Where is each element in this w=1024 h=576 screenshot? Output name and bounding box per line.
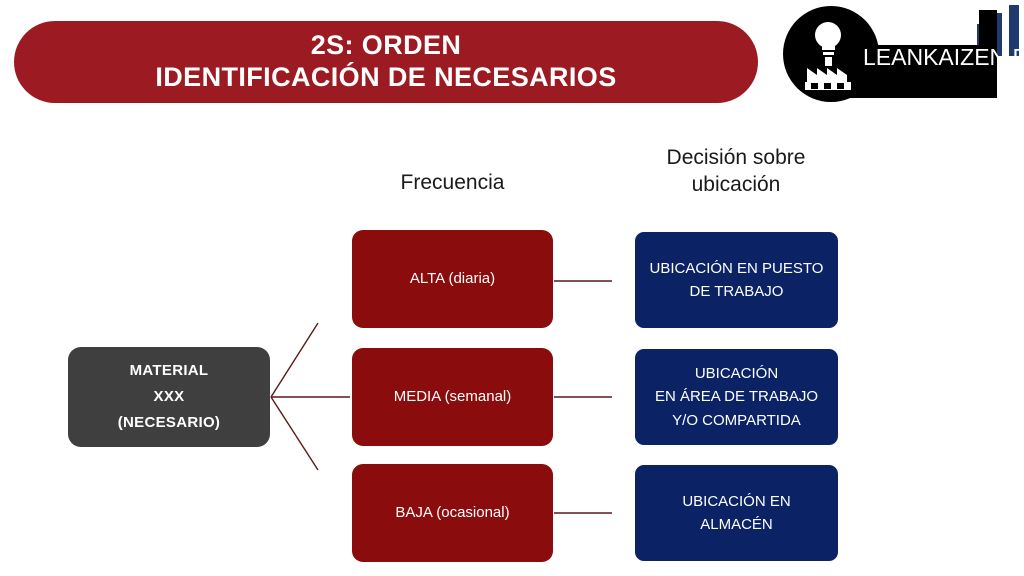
column-header-decision-line-2: ubicación: [628, 172, 844, 199]
frequency-node-alta[interactable]: ALTA (diaria): [352, 230, 553, 328]
source-node-line-1: MATERIAL: [76, 358, 262, 384]
title-banner: 2S: ORDEN IDENTIFICACIÓN DE NECESARIOS: [14, 21, 758, 103]
connector-source-to-baja: [271, 397, 318, 470]
source-node-line-2: XXX: [76, 384, 262, 410]
frequency-node-alta-label: ALTA (diaria): [352, 269, 553, 289]
column-header-frecuencia: Frecuencia: [352, 170, 553, 197]
source-node-line-3: (NECESARIO): [76, 410, 262, 436]
leankaizen-logo[interactable]: LEANKAIZEN.ES LEANKAIZEN.ES: [781, 2, 1024, 104]
frequency-node-media-label: MEDIA (semanal): [352, 387, 553, 407]
decision-node-2-line-1: UBICACIÓN: [643, 362, 830, 385]
decision-node-3-line-2: ALMACÉN: [643, 513, 830, 536]
decision-node-2-line-2: EN ÁREA DE TRABAJO: [643, 385, 830, 408]
title-line-2: IDENTIFICACIÓN DE NECESARIOS: [155, 62, 616, 94]
frequency-node-media[interactable]: MEDIA (semanal): [352, 348, 553, 446]
decision-node-1-line-2: DE TRABAJO: [643, 280, 830, 303]
connector-source-to-alta: [271, 323, 318, 397]
slide-canvas: 2S: ORDEN IDENTIFICACIÓN DE NECESARIOS: [0, 0, 1024, 576]
column-header-decision: Decisión sobre ubicación: [628, 145, 844, 199]
source-node-material[interactable]: MATERIAL XXX (NECESARIO): [68, 347, 270, 447]
decision-node-area-de-trabajo[interactable]: UBICACIÓN EN ÁREA DE TRABAJO Y/O COMPART…: [635, 349, 838, 445]
decision-node-3-line-1: UBICACIÓN EN: [643, 490, 830, 513]
frequency-node-baja-label: BAJA (ocasional): [352, 503, 553, 523]
decision-node-puesto-de-trabajo[interactable]: UBICACIÓN EN PUESTO DE TRABAJO: [635, 232, 838, 328]
decision-node-1-line-1: UBICACIÓN EN PUESTO: [643, 257, 830, 280]
frequency-node-baja[interactable]: BAJA (ocasional): [352, 464, 553, 562]
decision-node-almacen[interactable]: UBICACIÓN EN ALMACÉN: [635, 465, 838, 561]
decision-node-2-line-3: Y/O COMPARTIDA: [643, 409, 830, 432]
title-line-1: 2S: ORDEN: [311, 30, 462, 62]
logo-brand-text: LEANKAIZEN.ES: [863, 44, 1024, 70]
column-header-decision-line-1: Decisión sobre: [628, 145, 844, 172]
